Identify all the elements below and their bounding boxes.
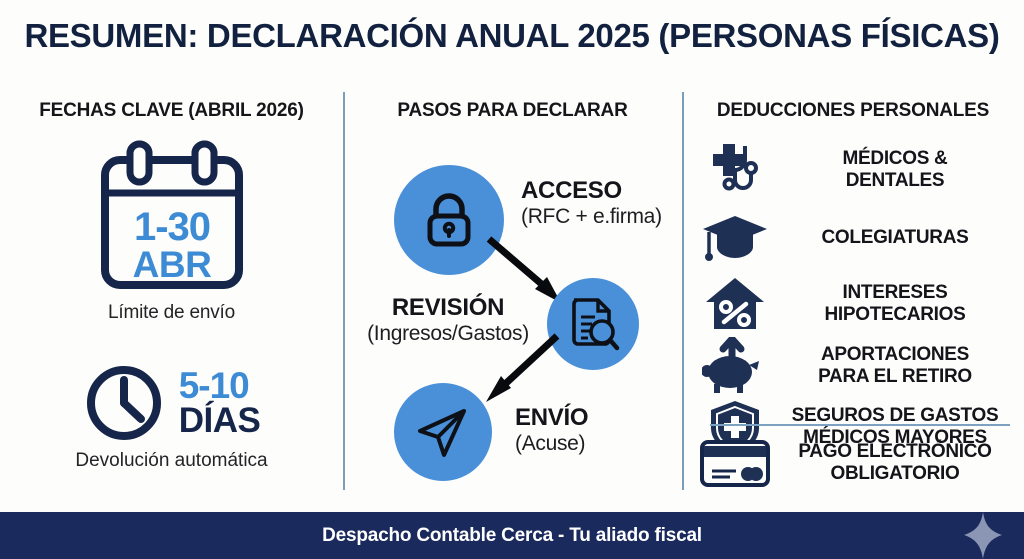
- piggy-bank-icon: [696, 337, 774, 395]
- deduction-row-aportaciones: APORTACIONES PARA EL RETIRO: [696, 337, 1016, 395]
- step-title-acceso: ACCESO: [521, 178, 662, 205]
- clock-values: 5-10 DÍAS: [179, 368, 261, 437]
- calendar-month: ABR: [132, 244, 211, 285]
- deduction-label-intereses: INTERESES HIPOTECARIOS: [774, 282, 1016, 325]
- step-circle-envio: [394, 383, 492, 481]
- deduction-row-intereses: INTERESES HIPOTECARIOS: [696, 275, 1016, 333]
- step-subtitle-acceso: (RFC + e.firma): [521, 205, 662, 229]
- calendar-date-range: 1-30: [133, 205, 209, 249]
- credit-card-icon: [696, 438, 774, 488]
- graduation-cap-icon: [696, 212, 774, 264]
- infographic-page: RESUMEN: DECLARACIÓN ANUAL 2025 (PERSONA…: [0, 0, 1024, 559]
- steps-column: ACCESO (RFC + e.firma) REVISIÓN (Ingreso: [343, 0, 682, 559]
- calendar-block: 1-30 ABR Límite de envío: [0, 140, 343, 324]
- house-percent-icon: [696, 275, 774, 333]
- calendar-caption: Límite de envío: [0, 302, 343, 324]
- step-label-envio: ENVÍO (Acuse): [515, 405, 588, 455]
- payment-note-row: PAGO ELECTRÓNICO OBLIGATORIO: [696, 438, 1016, 488]
- clock-days-label: DÍAS: [179, 404, 261, 438]
- clock-block: 5-10 DÍAS: [0, 362, 343, 444]
- calendar-icon: 1-30 ABR: [97, 140, 247, 292]
- lock-icon: [418, 189, 480, 251]
- step-title-revision: REVISIÓN: [355, 295, 541, 322]
- footer-bar: Despacho Contable Cerca - Tu aliado fisc…: [0, 512, 1024, 559]
- deduction-label-colegiaturas: COLEGIATURAS: [774, 227, 1016, 249]
- deduction-row-medicos: MÉDICOS & DENTALES: [696, 140, 1016, 200]
- clock-days-range: 5-10: [179, 368, 261, 404]
- deductions-divider: [710, 424, 1010, 426]
- clock-icon: [83, 362, 165, 444]
- footer-text: Despacho Contable Cerca - Tu aliado fisc…: [322, 525, 702, 547]
- step-subtitle-envio: (Acuse): [515, 432, 588, 456]
- section-header-dates: FECHAS CLAVE (ABRIL 2026): [0, 100, 343, 122]
- deduction-label-aportaciones: APORTACIONES PARA EL RETIRO: [774, 344, 1016, 387]
- medical-stethoscope-icon: [696, 140, 774, 200]
- deduction-row-colegiaturas: COLEGIATURAS: [696, 212, 1016, 264]
- step-label-acceso: ACCESO (RFC + e.firma): [521, 178, 662, 228]
- document-search-icon: [564, 295, 622, 353]
- arrow-step2-to-step3-icon: [471, 330, 566, 415]
- paper-plane-icon: [414, 403, 472, 461]
- deduction-label-medicos: MÉDICOS & DENTALES: [774, 148, 1016, 191]
- payment-note-label: PAGO ELECTRÓNICO OBLIGATORIO: [774, 441, 1016, 484]
- clock-caption: Devolución automática: [0, 450, 343, 472]
- sparkle-diamond-icon: [960, 512, 1006, 559]
- step-title-envio: ENVÍO: [515, 405, 588, 432]
